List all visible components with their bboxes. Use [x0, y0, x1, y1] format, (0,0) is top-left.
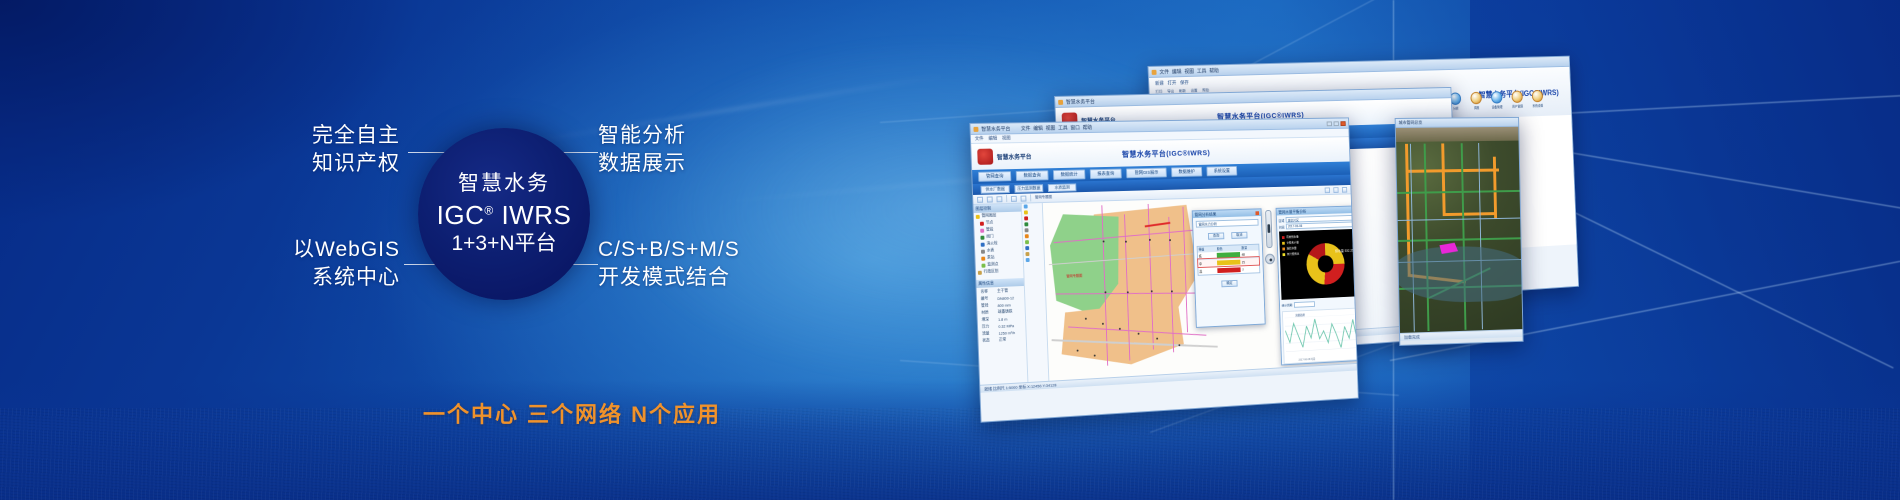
property-value: 正常 — [999, 337, 1007, 342]
water-balance-donut-chart: 有效供水量 计费未计量 漏损水量 未计费用水 供水量 532.25 — [1279, 229, 1357, 300]
analysis-dialog[interactable]: 管网分析结果 管网水力分析 查询 取消 等级 — [1192, 208, 1266, 328]
ribbon-tab-label[interactable]: 打开 — [1168, 80, 1177, 86]
panel-title-text: 管网水量平衡分析 — [1278, 208, 1306, 215]
nav-tab-data-query[interactable]: 数据查询 — [1016, 170, 1049, 181]
nav-tab-guanwang[interactable]: 管网查询 — [978, 171, 1011, 182]
window-title-text: 智慧水务平台 — [1066, 98, 1095, 106]
ribbon-icon-label: 用户管理 — [1512, 104, 1523, 109]
property-key: 埋深 — [982, 317, 997, 323]
legend-label: 计费未计量 — [1286, 240, 1298, 244]
table-header: 颜色 — [1216, 245, 1241, 251]
donut-center-label: 供水量 532.25 — [1335, 248, 1354, 253]
row-count: 48 — [1241, 252, 1259, 256]
select-tool-icon[interactable] — [1011, 195, 1017, 201]
table-header: 数量 — [1240, 245, 1258, 250]
banner-stage: 文件 编辑 视图 工具 帮助 新建 打开 保存 打印 导出 刷新 设置 帮助 智… — [0, 0, 1900, 500]
donut-legend: 有效供水量 计费未计量 漏损水量 未计费用水 — [1282, 235, 1299, 256]
menubar-item[interactable]: 编辑 — [988, 136, 997, 142]
app-window-front[interactable]: 智慧水务平台 文件 编辑 视图 工具 窗口 帮助 文件 编辑 视图 智慧水务平台… — [969, 117, 1358, 422]
property-value: 0.32 MPa — [998, 324, 1014, 329]
layer-label: 监测点 — [987, 262, 998, 267]
circle-igc-text: IGC — [437, 200, 485, 230]
window-menu-file[interactable]: 文件 — [1159, 68, 1169, 75]
app-icon — [1152, 69, 1157, 74]
water-balance-panel[interactable]: 管网水量平衡分析 区域 城北片区 时间 2017-06-08 — [1276, 205, 1357, 365]
window-brand-text: 智慧水务平台 — [997, 151, 1032, 161]
nav-tab-gis[interactable]: 管网GIS展示 — [1126, 168, 1167, 179]
map-zoom-slider[interactable] — [1265, 210, 1273, 248]
property-value: 1.8 m — [998, 317, 1007, 321]
window-menu-view[interactable]: 视图 — [1184, 67, 1194, 74]
footer-input[interactable] — [1294, 301, 1315, 308]
property-value: 1250 m³/h — [999, 331, 1016, 336]
nav-tab-statistics[interactable]: 数据统计 — [1053, 169, 1085, 180]
property-key: 名称 — [980, 289, 995, 295]
layer-label: 阀门 — [986, 234, 994, 239]
footer-label: 统计周期 — [1282, 303, 1293, 307]
window-menu-file[interactable]: 文件 — [1021, 125, 1031, 132]
row-level: 高 — [1198, 268, 1216, 274]
feature-label-line1: 智能分析 — [598, 122, 898, 150]
filter-label: 区域 — [1279, 218, 1285, 223]
property-key: 流量 — [982, 331, 997, 337]
center-brand-circle: 智慧水务 IGC® IWRS 1+3+N平台 — [418, 128, 590, 300]
feature-label-line1: 完全自主 — [150, 122, 400, 150]
gis-map-view[interactable]: 管网专题图 管网分析结果 管网水力分析 查询 取消 — [1043, 194, 1357, 380]
table-header: 等级 — [1198, 246, 1216, 251]
filter-value: 2017-06-08 — [1286, 221, 1356, 229]
company-logo-icon — [977, 149, 993, 165]
property-value: 主干管 — [997, 289, 1008, 294]
dispatch-icon — [1470, 92, 1482, 105]
row-level: 低 — [1198, 253, 1216, 258]
layer-label: 管网图层 — [982, 213, 997, 218]
circle-line-2: IGC® IWRS — [437, 201, 572, 231]
property-key: 压力 — [982, 324, 997, 330]
dialog-select[interactable]: 管网水力分析 — [1196, 219, 1259, 228]
banner-tagline: 一个中心 三个网络 N个应用 — [362, 397, 782, 429]
row-count: 7 — [1241, 267, 1259, 272]
tool-item[interactable] — [1024, 256, 1044, 263]
filter-label: 时间 — [1279, 224, 1285, 229]
nav-tab-settings[interactable]: 系统设置 — [1206, 166, 1237, 176]
ribbon-icon-item[interactable]: 系统设置 — [1532, 90, 1544, 108]
property-value: 800 mm — [998, 303, 1011, 308]
dialog-ok-button[interactable]: 确定 — [1221, 280, 1237, 287]
window-menu-tools[interactable]: 工具 — [1058, 124, 1068, 131]
sub-tab-pressure[interactable]: 压力监测数据 — [1014, 184, 1043, 193]
layer-item[interactable]: 行政区划 — [976, 267, 1024, 276]
legend-label: 有效供水量 — [1286, 235, 1298, 239]
ribbon-icon-item[interactable]: 设备管理 — [1491, 91, 1503, 109]
feature-label-bottom-right: C/S+B/S+M/S 开发模式结合 — [598, 236, 898, 292]
ribbon-tab-label[interactable]: 保存 — [1180, 80, 1189, 86]
window-menu-help[interactable]: 帮助 — [1083, 124, 1093, 131]
export-tool-icon[interactable] — [1342, 186, 1347, 192]
flow-trend-line-chart: 流量趋势 2017-06-08 时段 — [1282, 308, 1357, 365]
map-zone-orange-south — [1060, 300, 1185, 369]
menubar-item[interactable]: 文件 — [975, 136, 984, 142]
status-text: 加载完成 — [1404, 334, 1420, 341]
ribbon-icon-item[interactable]: 用户管理 — [1511, 90, 1523, 108]
sub-tab-quality[interactable]: 水质监测 — [1048, 183, 1077, 192]
pan-center-dot — [1269, 258, 1272, 261]
map-pan-control[interactable] — [1265, 254, 1275, 265]
app-icon — [1058, 99, 1063, 104]
legend-label: 未计费用水 — [1287, 252, 1299, 256]
window-menu-view[interactable]: 视图 — [1046, 124, 1056, 131]
maximize-icon[interactable] — [1334, 121, 1339, 126]
feature-label-line2: 数据展示 — [598, 150, 898, 178]
dialog-query-button[interactable]: 查询 — [1208, 232, 1224, 239]
circle-line-1: 智慧水务 — [458, 172, 550, 195]
property-table: 名称主干管 编号DN800-12 管径800 mm 材质球墨铸铁 埋深1.8 m… — [977, 286, 1026, 346]
feature-label-line2: 系统中心 — [150, 264, 400, 292]
nav-tab-report[interactable]: 报表查询 — [1090, 169, 1122, 180]
circle-iwrs-text: IWRS — [501, 200, 571, 230]
window-menu-tools[interactable]: 工具 — [1197, 67, 1207, 74]
menubar-item[interactable]: 视图 — [1002, 135, 1011, 141]
slider-thumb[interactable] — [1267, 224, 1270, 233]
feature-label-bottom-left: 以WebGIS 系统中心 — [150, 236, 400, 292]
feature-label-line1: C/S+B/S+M/S — [598, 236, 898, 264]
feature-label-top-right: 智能分析 数据展示 — [598, 122, 898, 178]
row-count: 21 — [1241, 259, 1259, 264]
zoom-in-tool-icon[interactable] — [987, 196, 993, 202]
layer-label: 行政区划 — [984, 269, 999, 275]
zoom-out-tool-icon[interactable] — [996, 196, 1002, 202]
feature-label-top-left: 完全自主 知识产权 — [150, 122, 400, 178]
window-menu-edit[interactable]: 编辑 — [1033, 124, 1043, 131]
window-front-body: 图层控制 管网图层 节点 管段 阀门 消火栓 水表 泵站 监测点 行政区划 属性… — [973, 194, 1356, 384]
feature-label-line1: 以WebGIS — [150, 236, 400, 264]
layer-label: 节点 — [986, 220, 994, 225]
circle-line-3: 1+3+N平台 — [451, 232, 556, 255]
feature-label-line2: 知识产权 — [150, 150, 400, 178]
close-icon[interactable] — [1255, 211, 1259, 215]
window-app-title: 智慧水务平台(IGC®IWRS) — [1122, 147, 1210, 159]
window-menu-window[interactable]: 窗口 — [1070, 124, 1080, 131]
ribbon-icon-label: 调度 — [1474, 105, 1480, 110]
dialog-title-text: 管网分析结果 — [1194, 211, 1216, 217]
pan-tool-icon[interactable] — [977, 196, 983, 202]
ribbon-tab-label[interactable]: 新建 — [1155, 81, 1164, 87]
feature-label-line2: 开发模式结合 — [598, 264, 898, 292]
user-icon — [1511, 90, 1523, 103]
chart-footer[interactable]: 统计周期 — [1282, 299, 1357, 308]
sub-tab-plant[interactable]: 供水厂数据 — [980, 185, 1009, 194]
dialog-cancel-button[interactable]: 取消 — [1231, 232, 1247, 239]
layer-label: 管段 — [986, 227, 994, 232]
device-icon — [1491, 91, 1503, 104]
dialog-select-value: 管网水力分析 — [1198, 221, 1216, 226]
layer-label: 水表 — [987, 248, 995, 253]
ribbon-icon-label: 设备管理 — [1492, 104, 1503, 109]
background-floor-texture — [0, 408, 1900, 500]
window-title-text: 城市管网总览 — [1399, 120, 1423, 126]
satellite-map-view[interactable] — [1396, 127, 1523, 333]
line-chart-svg — [1285, 314, 1357, 352]
window-title-text: 智慧水务平台 — [981, 125, 1010, 132]
property-row: 状态正常 — [980, 336, 1024, 345]
print-tool-icon[interactable] — [1333, 187, 1338, 193]
table-row: 高 7 — [1198, 265, 1259, 275]
property-key: 管径 — [981, 303, 996, 309]
property-value: 球墨铸铁 — [998, 309, 1013, 315]
measure-tool-icon[interactable] — [1020, 195, 1026, 201]
close-icon[interactable] — [1340, 121, 1345, 126]
map-annotation: 管网专题图 — [1066, 273, 1082, 279]
layer-control-panel[interactable]: 图层控制 管网图层 节点 管段 阀门 消火栓 水表 泵站 监测点 行政区划 属性… — [973, 204, 1028, 385]
app-window-satellite[interactable]: 城市管网总览 — [1395, 117, 1524, 346]
chart-x-label: 2017-06-08 时段 — [1298, 357, 1315, 362]
ribbon-icon-label: 分析 — [1453, 106, 1459, 111]
map-title-label: 管网专题图 — [1035, 195, 1052, 200]
ribbon-icon-label: 系统设置 — [1532, 103, 1543, 108]
nav-tab-maintenance[interactable]: 数据维护 — [1171, 167, 1202, 177]
registered-trademark-icon: ® — [484, 203, 493, 217]
property-key: 编号 — [981, 296, 996, 302]
property-key: 状态 — [982, 338, 997, 344]
property-key: 材质 — [981, 310, 996, 316]
layer-label: 消火栓 — [986, 241, 997, 246]
window-menu-edit[interactable]: 编辑 — [1172, 68, 1182, 75]
row-level: 中 — [1198, 261, 1216, 267]
map-terrain-band — [1396, 127, 1519, 142]
minimize-icon[interactable] — [1327, 121, 1332, 126]
property-value: DN800-12 — [997, 296, 1014, 301]
window-menu-help[interactable]: 帮助 — [1209, 67, 1219, 74]
dialog-result-table: 等级 颜色 数量 低 48 中 — [1197, 244, 1261, 276]
settings-icon — [1532, 90, 1543, 102]
legend-label: 漏损水量 — [1287, 246, 1297, 250]
ribbon-icon-item[interactable]: 调度 — [1470, 92, 1482, 110]
layers-tool-icon[interactable] — [1325, 187, 1330, 193]
app-icon — [973, 126, 978, 131]
layer-label: 泵站 — [987, 255, 995, 260]
